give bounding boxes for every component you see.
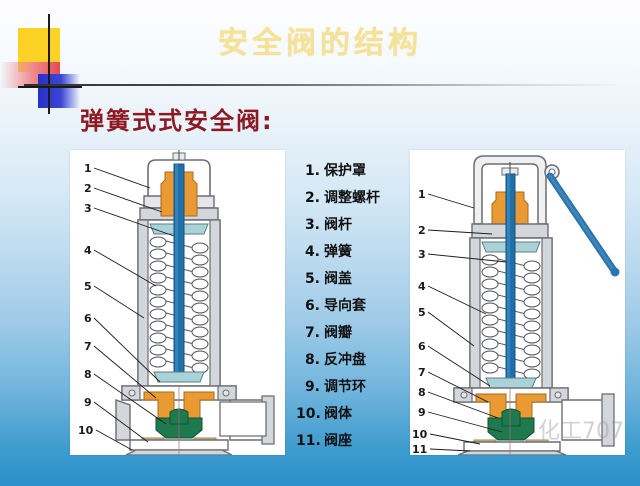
svg-text:6: 6 [418, 340, 426, 353]
parts-legend: 1. 保护罩 2. 调整螺杆 3. 阀杆 4. 弹簧 5. 阀盖 6. 导向套 … [296, 160, 404, 457]
list-item-label: 保护罩 [324, 160, 366, 180]
svg-text:7: 7 [84, 340, 92, 353]
list-item-number: 2. [296, 190, 320, 206]
list-item: 5. 阀盖 [296, 268, 404, 295]
svg-text:3: 3 [418, 248, 426, 261]
svg-text:11: 11 [412, 443, 427, 455]
list-item-label: 阀瓣 [324, 322, 352, 342]
list-item-number: 1. [296, 163, 320, 179]
blue-square-shape [38, 74, 80, 108]
svg-text:8: 8 [418, 386, 426, 399]
list-item: 7. 阀瓣 [296, 322, 404, 349]
list-item-number: 4. [296, 244, 320, 260]
list-item-number: 10. [296, 406, 320, 422]
slide-subtitle: 弹簧式式安全阀: [80, 101, 274, 136]
list-item-number: 7. [296, 325, 320, 341]
list-item: 8. 反冲盘 [296, 349, 404, 376]
svg-text:4: 4 [418, 280, 426, 293]
list-item-number: 9. [296, 379, 320, 395]
list-item-number: 8. [296, 352, 320, 368]
svg-text:1: 1 [418, 188, 426, 201]
list-item-label: 导向套 [324, 295, 366, 315]
list-item-number: 11. [296, 433, 320, 449]
horizontal-rule-shape [18, 86, 82, 88]
svg-text:2: 2 [418, 224, 426, 237]
list-item-number: 3. [296, 217, 320, 233]
list-item-number: 5. [296, 271, 320, 287]
list-item-label: 弹簧 [324, 241, 352, 261]
svg-text:10: 10 [412, 428, 428, 441]
svg-text:9: 9 [418, 406, 426, 419]
list-item-label: 调整螺杆 [324, 187, 380, 207]
svg-text:7: 7 [418, 366, 426, 379]
list-item-number: 6. [296, 298, 320, 314]
watermark-inner: 化工707 [538, 419, 624, 444]
list-item: 2. 调整螺杆 [296, 187, 404, 214]
svg-text:4: 4 [84, 244, 92, 257]
svg-text:8: 8 [84, 368, 92, 381]
svg-text:化工707: 化工707 [538, 419, 624, 444]
list-item: 3. 阀杆 [296, 214, 404, 241]
svg-text:2: 2 [84, 182, 92, 195]
svg-text:3: 3 [84, 202, 92, 215]
diagram-left-panel: 1 2 3 4 5 6 7 8 9 10 [70, 150, 285, 455]
svg-text:6: 6 [84, 312, 92, 325]
svg-text:1: 1 [84, 162, 92, 175]
list-item-label: 调节环 [324, 376, 366, 396]
list-item: 6. 导向套 [296, 295, 404, 322]
list-item: 9. 调节环 [296, 376, 404, 403]
diagram-right-panel: 1 2 3 4 5 6 7 8 9 10 11 化工707 [410, 150, 625, 455]
list-item: 4. 弹簧 [296, 241, 404, 268]
slide-title: 安全阀的结构 [0, 18, 640, 62]
list-item-label: 阀盖 [324, 268, 352, 288]
svg-text:10: 10 [78, 424, 94, 437]
list-item: 11. 阀座 [296, 430, 404, 457]
svg-text:9: 9 [84, 396, 92, 409]
slide-canvas: 安全阀的结构 弹簧式式安全阀: [0, 0, 640, 486]
list-item: 1. 保护罩 [296, 160, 404, 187]
title-underline [24, 84, 624, 86]
list-item-label: 阀座 [324, 430, 352, 450]
list-item-label: 阀杆 [324, 214, 352, 234]
list-item-label: 阀体 [324, 403, 352, 423]
list-item-label: 反冲盘 [324, 349, 366, 369]
svg-text:5: 5 [418, 306, 426, 319]
list-item: 10. 阀体 [296, 403, 404, 430]
svg-text:5: 5 [84, 280, 92, 293]
